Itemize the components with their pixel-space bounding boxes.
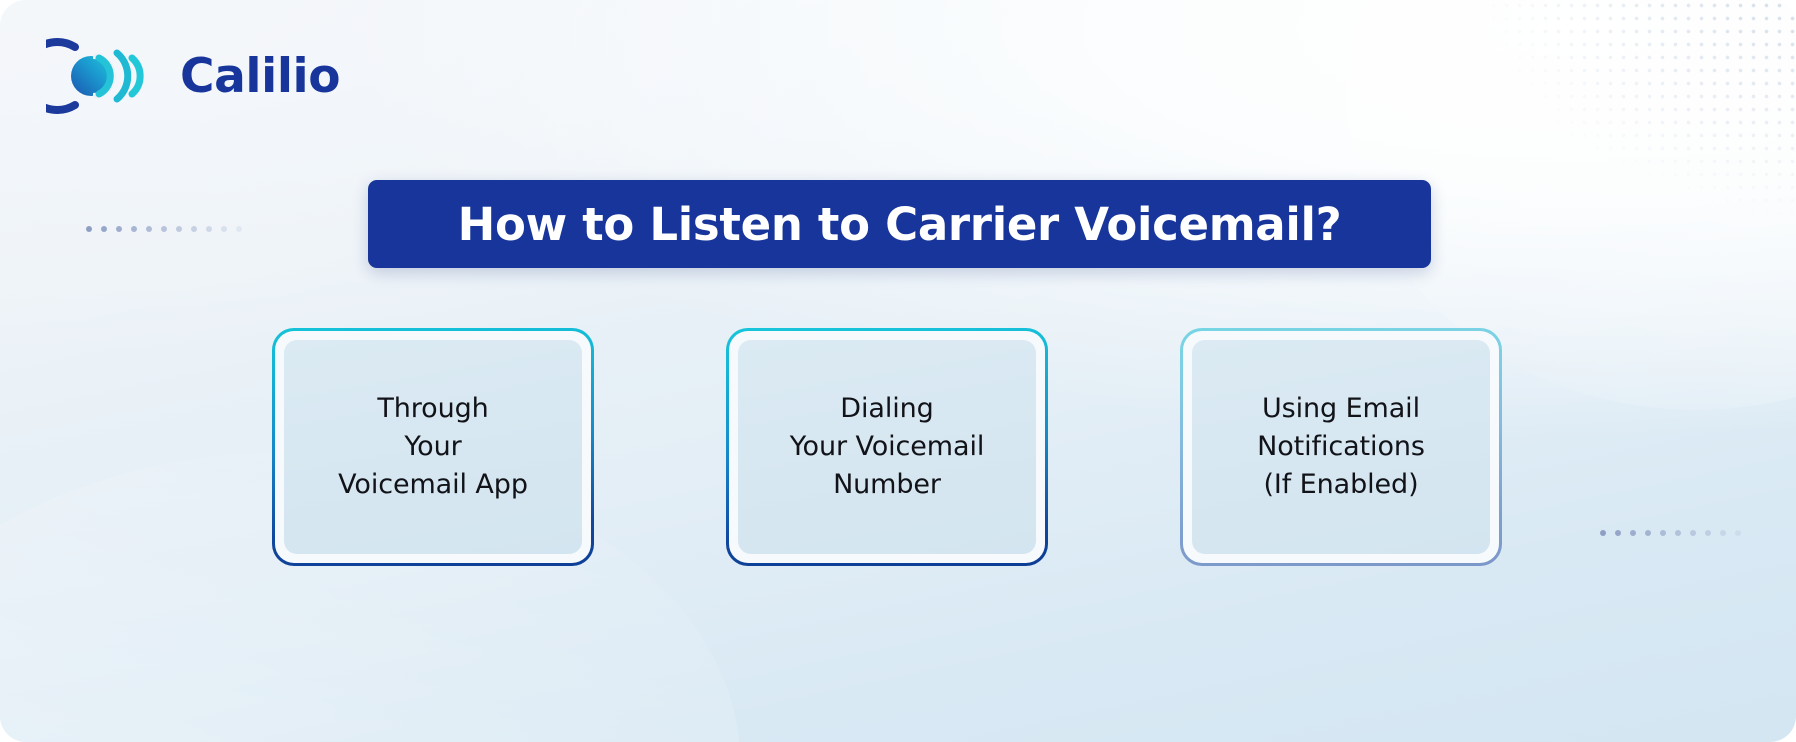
- method-card-dial-number[interactable]: Dialing Your Voicemail Number: [726, 328, 1048, 566]
- method-card-list: Through Your Voicemail App Dialing Your …: [272, 328, 1504, 568]
- card-label: Using Email Notifications (If Enabled): [1257, 390, 1425, 505]
- dot: [191, 226, 197, 232]
- method-card-voicemail-app[interactable]: Through Your Voicemail App: [272, 328, 594, 566]
- dot: [1600, 530, 1606, 536]
- dot: [101, 226, 107, 232]
- dot: [1630, 530, 1636, 536]
- card-label: Through Your Voicemail App: [338, 390, 528, 505]
- page-title: How to Listen to Carrier Voicemail?: [458, 198, 1342, 251]
- dot-row-right-decoration: [1600, 530, 1741, 536]
- brand-logo[interactable]: Calilio: [46, 37, 340, 115]
- dot: [1645, 530, 1651, 536]
- dot: [161, 226, 167, 232]
- card-ring: Dialing Your Voicemail Number: [729, 331, 1045, 563]
- dot: [1735, 530, 1741, 536]
- dot: [116, 226, 122, 232]
- dot: [1690, 530, 1696, 536]
- dot-row-left-decoration: [86, 226, 242, 232]
- card-label: Dialing Your Voicemail Number: [790, 390, 985, 505]
- infographic-canvas: Calilio How to Listen to Carrier Voicema…: [0, 0, 1796, 742]
- dot: [176, 226, 182, 232]
- method-card-email-notifications[interactable]: Using Email Notifications (If Enabled): [1180, 328, 1502, 566]
- sound-wave-circle-icon: [46, 37, 164, 115]
- dot: [1660, 530, 1666, 536]
- dot: [131, 226, 137, 232]
- dot: [1720, 530, 1726, 536]
- halftone-dots-decoration: [1396, 0, 1796, 290]
- card-ring: Using Email Notifications (If Enabled): [1183, 331, 1499, 563]
- brand-wordmark: Calilio: [180, 53, 340, 100]
- dot: [1705, 530, 1711, 536]
- card-panel: Using Email Notifications (If Enabled): [1192, 340, 1490, 554]
- dot: [1675, 530, 1681, 536]
- dot: [1615, 530, 1621, 536]
- card-ring: Through Your Voicemail App: [275, 331, 591, 563]
- dot: [236, 226, 242, 232]
- dot: [86, 226, 92, 232]
- card-panel: Through Your Voicemail App: [284, 340, 582, 554]
- page-title-banner: How to Listen to Carrier Voicemail?: [368, 180, 1431, 268]
- card-panel: Dialing Your Voicemail Number: [738, 340, 1036, 554]
- dot: [221, 226, 227, 232]
- dot: [146, 226, 152, 232]
- dot: [206, 226, 212, 232]
